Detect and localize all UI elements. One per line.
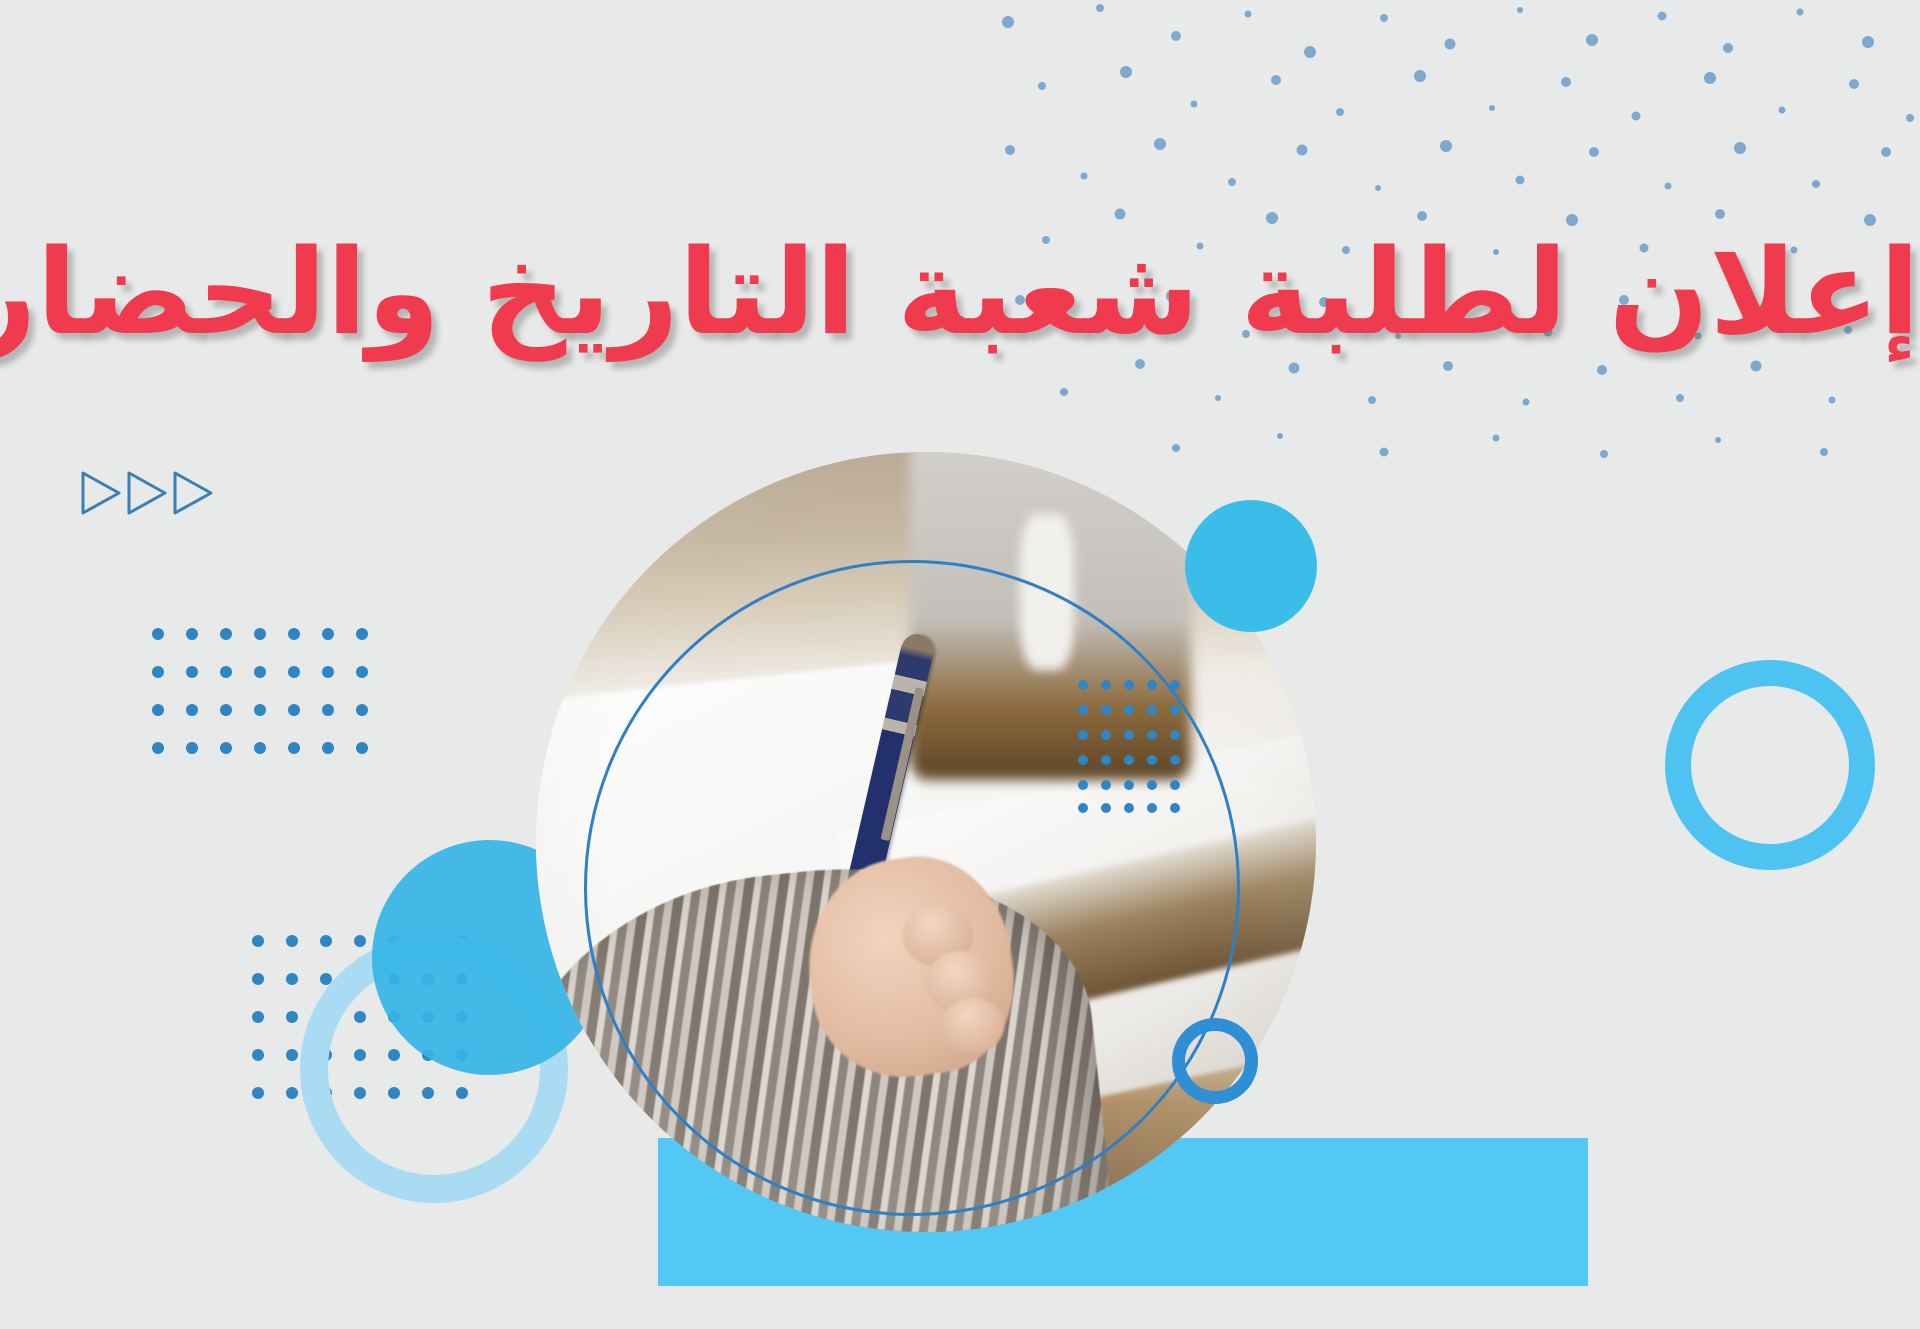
ring-large-right	[1665, 660, 1875, 870]
poster-canvas: إعلان لطلبة شعبة التاريخ والحضارة	[0, 0, 1920, 1329]
dot-grid-left	[152, 628, 382, 768]
dot-grid-over-photo	[1078, 680, 1198, 815]
triangle-arrows	[80, 470, 220, 516]
triangle-icon-1	[83, 473, 119, 513]
disc-blue-top-right	[1185, 500, 1317, 632]
triangle-icon-2	[129, 473, 165, 513]
ring-small-bottom	[1172, 1018, 1258, 1104]
page-title: إعلان لطلبة شعبة التاريخ والحضارة	[0, 219, 1920, 367]
triangle-icon-3	[175, 473, 211, 513]
